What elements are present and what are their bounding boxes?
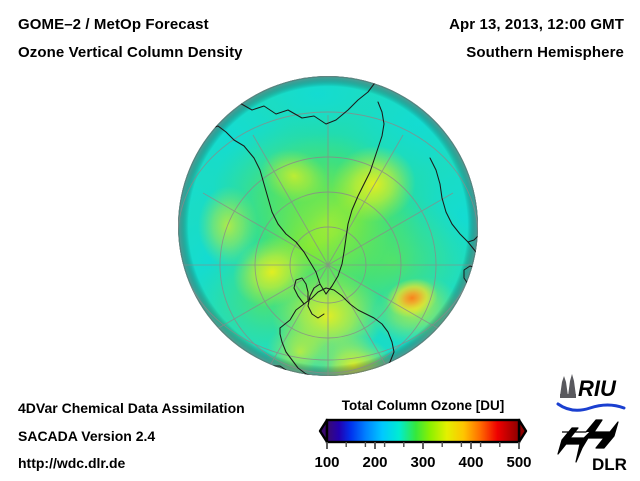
dlr-logo: DLR xyxy=(558,420,627,474)
title-line-2: Ozone Vertical Column Density xyxy=(18,44,243,61)
date-stamp: Apr 13, 2013, 12:00 GMT xyxy=(449,16,624,33)
logos: RIU DLR xyxy=(552,370,640,476)
colorbar-svg: 100 200 300 400 500 xyxy=(300,417,546,473)
footer-line-3: http://wdc.dlr.de xyxy=(18,455,125,471)
footer-line-2: SACADA Version 2.4 xyxy=(18,428,155,444)
colorbar: Total Column Ozone [DU] xyxy=(300,398,546,476)
colorbar-tick-labels: 100 200 300 400 500 xyxy=(314,454,531,471)
riu-wave-icon xyxy=(558,404,624,410)
riu-logo-text: RIU xyxy=(578,376,617,401)
cathedral-towers-icon xyxy=(560,374,576,398)
colorbar-tick-1: 200 xyxy=(362,454,387,471)
title-line-1: GOME–2 / MetOp Forecast xyxy=(18,16,209,33)
colorbar-title: Total Column Ozone [DU] xyxy=(300,398,546,413)
globe-svg xyxy=(168,66,488,386)
colorbar-tick-2: 300 xyxy=(410,454,435,471)
colorbar-tick-0: 100 xyxy=(314,454,339,471)
colorbar-tick-4: 500 xyxy=(506,454,531,471)
ozone-globe-map xyxy=(168,66,488,386)
riu-logo: RIU xyxy=(558,374,624,410)
dlr-logo-text: DLR xyxy=(592,455,627,474)
footer-line-1: 4DVar Chemical Data Assimilation xyxy=(18,400,245,416)
colorbar-tick-3: 400 xyxy=(458,454,483,471)
hemisphere-label: Southern Hemisphere xyxy=(466,44,624,61)
logos-svg: RIU DLR xyxy=(552,370,640,476)
